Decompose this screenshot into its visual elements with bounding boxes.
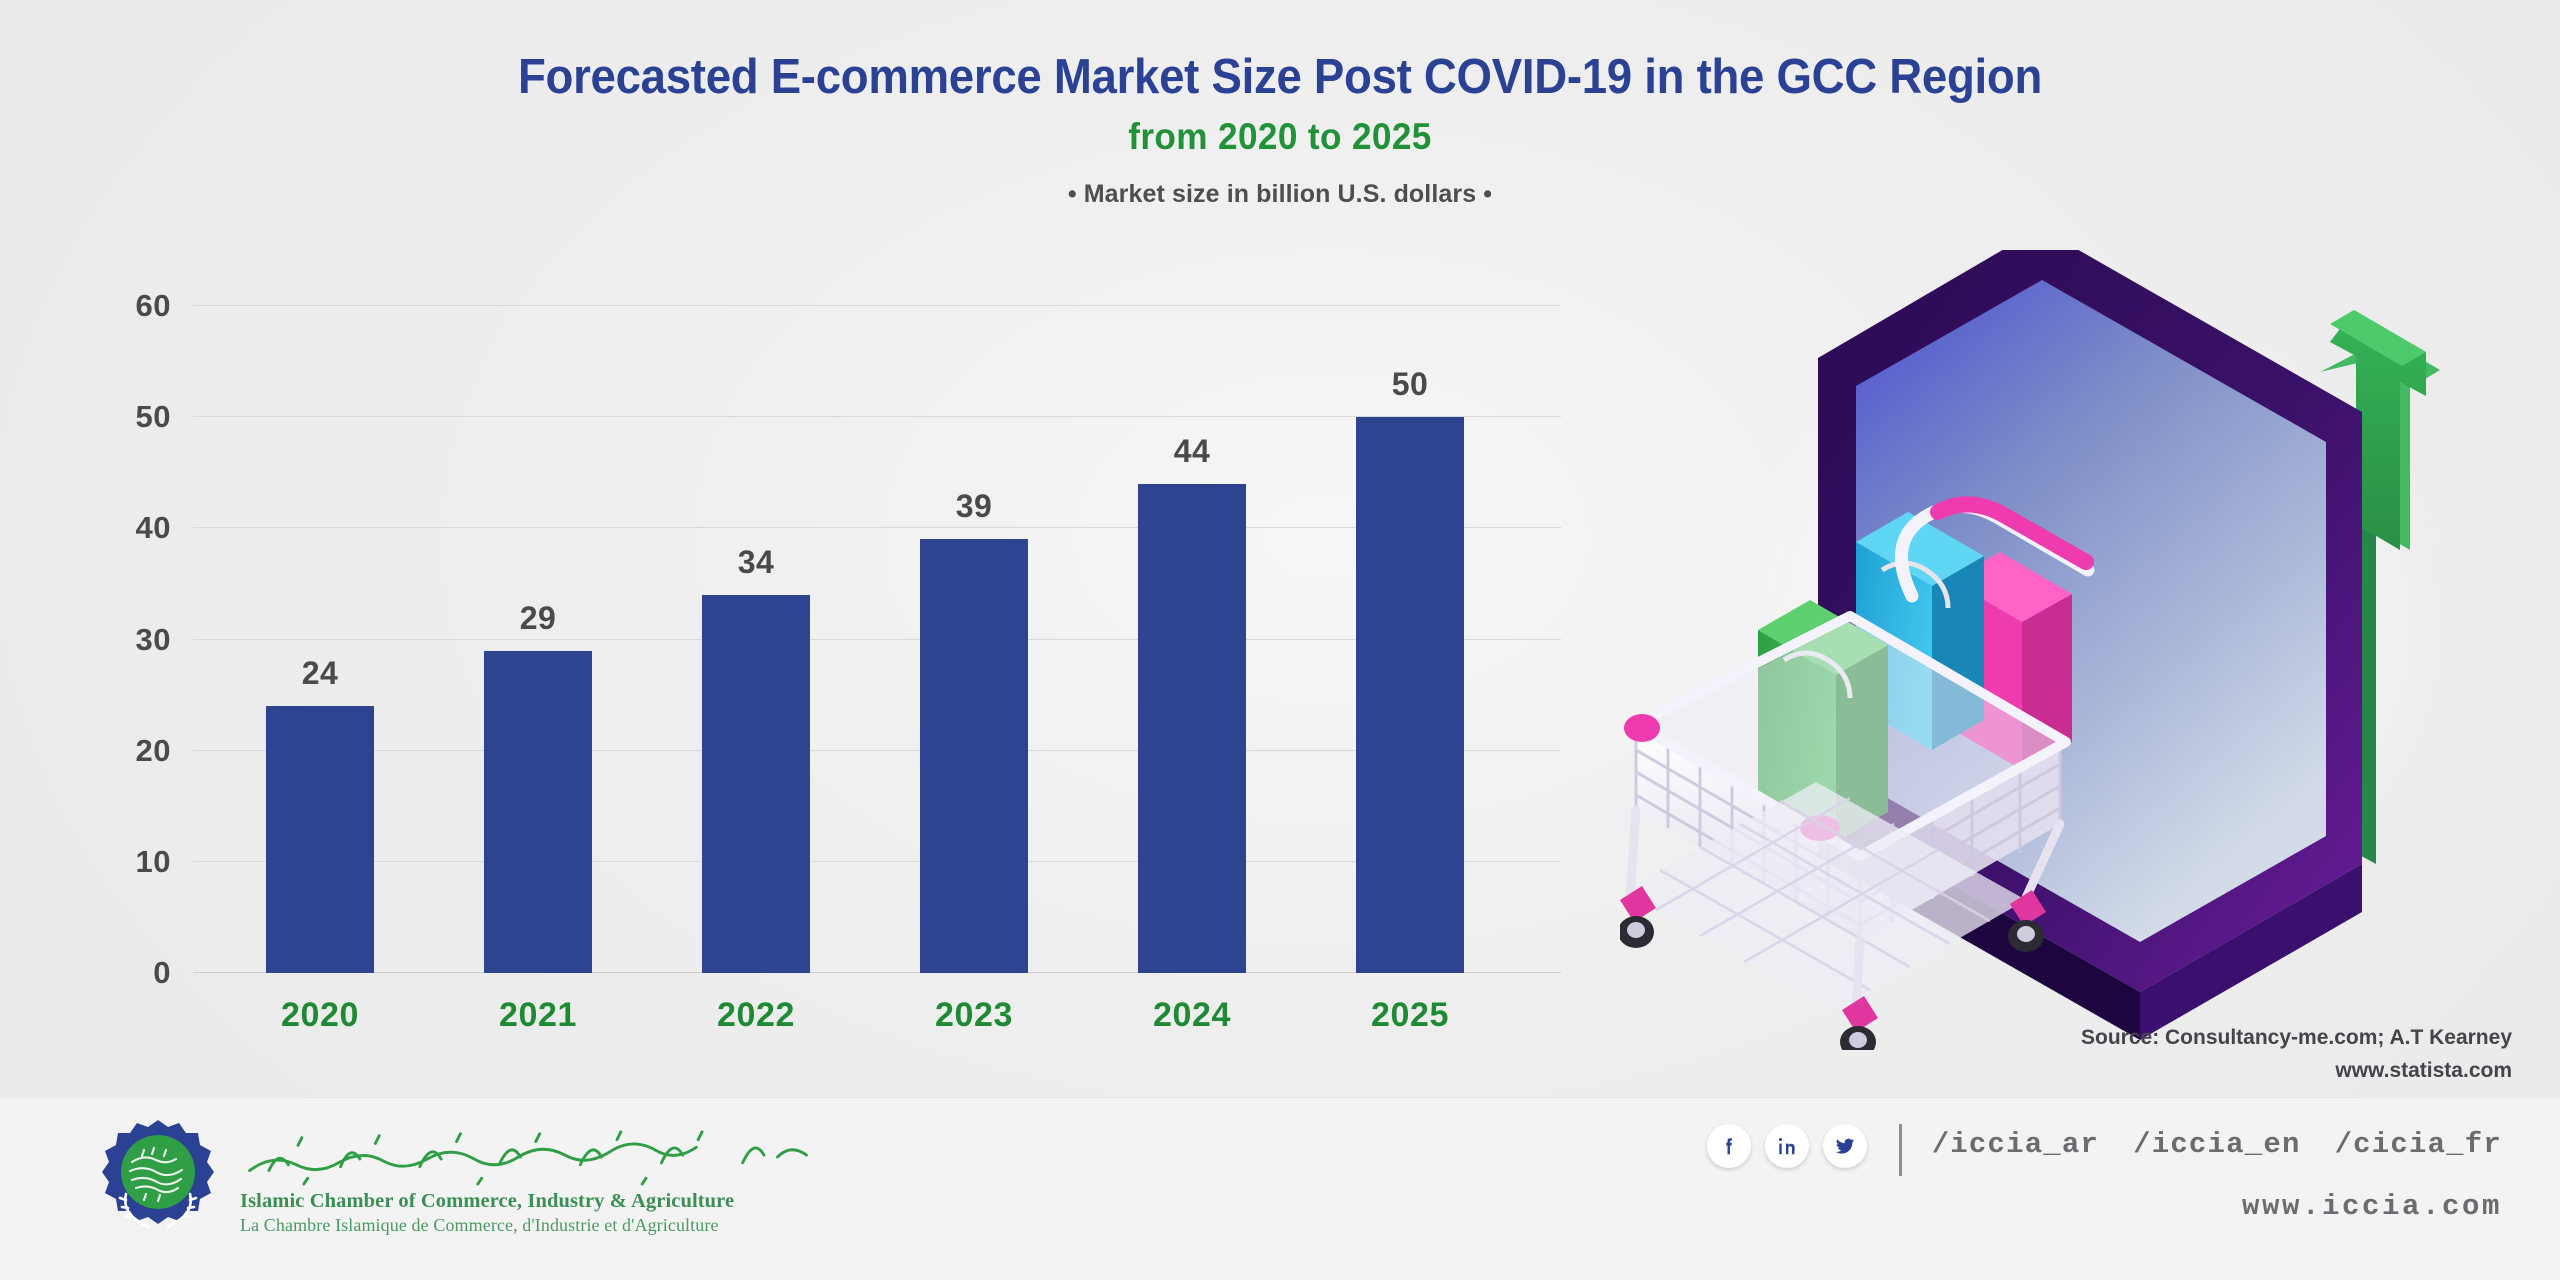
brand-arabic-calligraphy bbox=[240, 1128, 820, 1186]
source-line-2: www.statista.com bbox=[2081, 1055, 2512, 1088]
handles-block: /iccia_ar /iccia_en /cicia_fr www.iccia.… bbox=[1932, 1124, 2502, 1223]
brand-block: Islamic Chamber of Commerce, Industry & … bbox=[98, 1116, 820, 1241]
bar-value-label: 29 bbox=[466, 600, 610, 637]
x-label-2022: 2022 bbox=[684, 996, 828, 1035]
bar-series: 242934394450 bbox=[193, 306, 1561, 973]
ecommerce-isometric-illustration bbox=[1620, 250, 2560, 1050]
bar-slot: 39 bbox=[902, 306, 1046, 973]
bar-2020[interactable] bbox=[266, 706, 374, 973]
bar-value-label: 44 bbox=[1120, 433, 1264, 470]
handle-fr[interactable]: /cicia_fr bbox=[2335, 1124, 2502, 1166]
y-tick-label: 20 bbox=[136, 733, 171, 769]
footer: Islamic Chamber of Commerce, Industry & … bbox=[0, 1097, 2560, 1280]
bar-2024[interactable] bbox=[1138, 484, 1246, 973]
handle-ar[interactable]: /iccia_ar bbox=[1932, 1124, 2099, 1166]
bar-slot: 34 bbox=[684, 306, 828, 973]
bar-slot: 44 bbox=[1120, 306, 1264, 973]
y-axis-tick-labels: 6050403020100 bbox=[95, 306, 173, 973]
bar-slot: 29 bbox=[466, 306, 610, 973]
facebook-icon[interactable] bbox=[1707, 1124, 1751, 1168]
y-tick-label: 30 bbox=[136, 622, 171, 658]
social-handles: /iccia_ar /iccia_en /cicia_fr bbox=[1932, 1124, 2502, 1166]
bar-2021[interactable] bbox=[484, 651, 592, 973]
y-tick-label: 10 bbox=[136, 844, 171, 880]
x-label-2021: 2021 bbox=[466, 996, 610, 1035]
bar-2023[interactable] bbox=[920, 539, 1028, 973]
x-label-2023: 2023 bbox=[902, 996, 1046, 1035]
brand-name-french: La Chambre Islamique de Commerce, d'Indu… bbox=[240, 1215, 820, 1236]
y-tick-label: 40 bbox=[136, 510, 171, 546]
bar-value-label: 24 bbox=[248, 655, 392, 692]
handle-en[interactable]: /iccia_en bbox=[2133, 1124, 2300, 1166]
y-tick-label: 0 bbox=[153, 955, 171, 991]
website-url[interactable]: www.iccia.com bbox=[1932, 1190, 2502, 1223]
brand-text-block: Islamic Chamber of Commerce, Industry & … bbox=[240, 1122, 820, 1236]
brand-name-english: Islamic Chamber of Commerce, Industry & … bbox=[240, 1190, 820, 1213]
bar-slot: 24 bbox=[248, 306, 392, 973]
y-tick-label: 60 bbox=[136, 288, 171, 324]
source-line-1: Source: Consultancy-me.com; A.T Kearney bbox=[2081, 1022, 2512, 1055]
y-tick-label: 50 bbox=[136, 399, 171, 435]
bar-value-label: 34 bbox=[684, 544, 828, 581]
bar-2022[interactable] bbox=[702, 595, 810, 973]
linkedin-icon[interactable] bbox=[1765, 1124, 1809, 1168]
social-divider bbox=[1899, 1124, 1902, 1176]
twitter-icon[interactable] bbox=[1823, 1124, 1867, 1168]
bar-value-label: 50 bbox=[1338, 366, 1482, 403]
source-attribution: Source: Consultancy-me.com; A.T Kearney … bbox=[2081, 1022, 2512, 1087]
x-label-2020: 2020 bbox=[248, 996, 392, 1035]
x-label-2025: 2025 bbox=[1338, 996, 1482, 1035]
x-axis-category-labels: 202020212022202320242025 bbox=[193, 996, 1561, 1044]
bar-slot: 50 bbox=[1338, 306, 1482, 973]
social-icon-list bbox=[1707, 1124, 1867, 1168]
iccia-logo bbox=[98, 1116, 218, 1241]
x-label-2024: 2024 bbox=[1120, 996, 1264, 1035]
bar-chart: 6050403020100 242934394450 2020202120222… bbox=[0, 0, 1620, 1100]
social-block: /iccia_ar /iccia_en /cicia_fr www.iccia.… bbox=[1707, 1124, 2502, 1223]
bar-value-label: 39 bbox=[902, 488, 1046, 525]
infographic-root: Forecasted E-commerce Market Size Post C… bbox=[0, 0, 2560, 1280]
bar-2025[interactable] bbox=[1356, 417, 1464, 973]
